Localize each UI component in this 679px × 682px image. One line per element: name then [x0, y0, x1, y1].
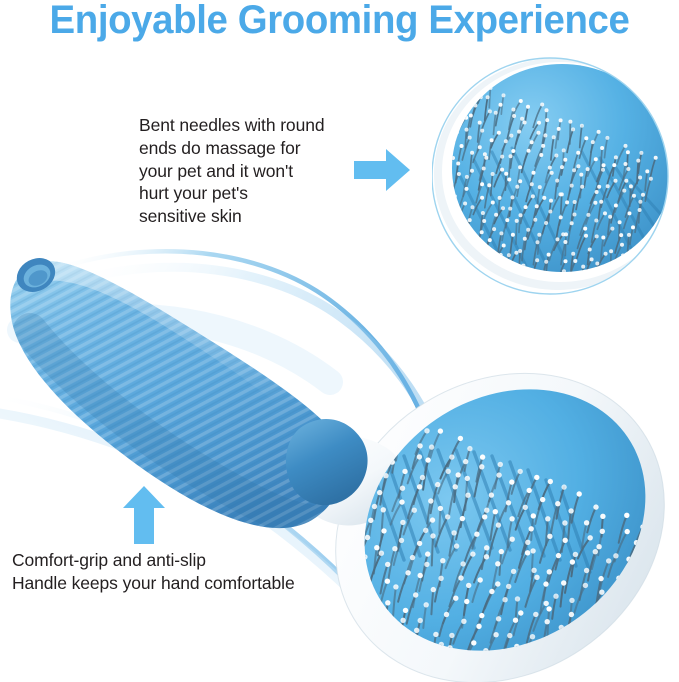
- product-infographic: Enjoyable Grooming Experience: [0, 0, 679, 682]
- callout-line: sensitive skin: [139, 205, 354, 228]
- needle-closeup-inset: [432, 52, 678, 298]
- brush-handle: [0, 240, 380, 540]
- arrow-right-icon: [352, 146, 412, 194]
- callout-line: Bent needles with round: [139, 114, 354, 137]
- callout-line: ends do massage for: [139, 137, 354, 160]
- arrow-up-icon: [120, 484, 168, 546]
- callout-line: hurt your pet's: [139, 182, 354, 205]
- callout-line: Comfort-grip and anti-slip: [12, 549, 342, 572]
- callout-bent-needles: Bent needles with round ends do massage …: [139, 114, 354, 228]
- callout-comfort-grip: Comfort-grip and anti-slip Handle keeps …: [12, 549, 342, 595]
- callout-line: Handle keeps your hand comfortable: [12, 572, 342, 595]
- callout-line: your pet and it won't: [139, 160, 354, 183]
